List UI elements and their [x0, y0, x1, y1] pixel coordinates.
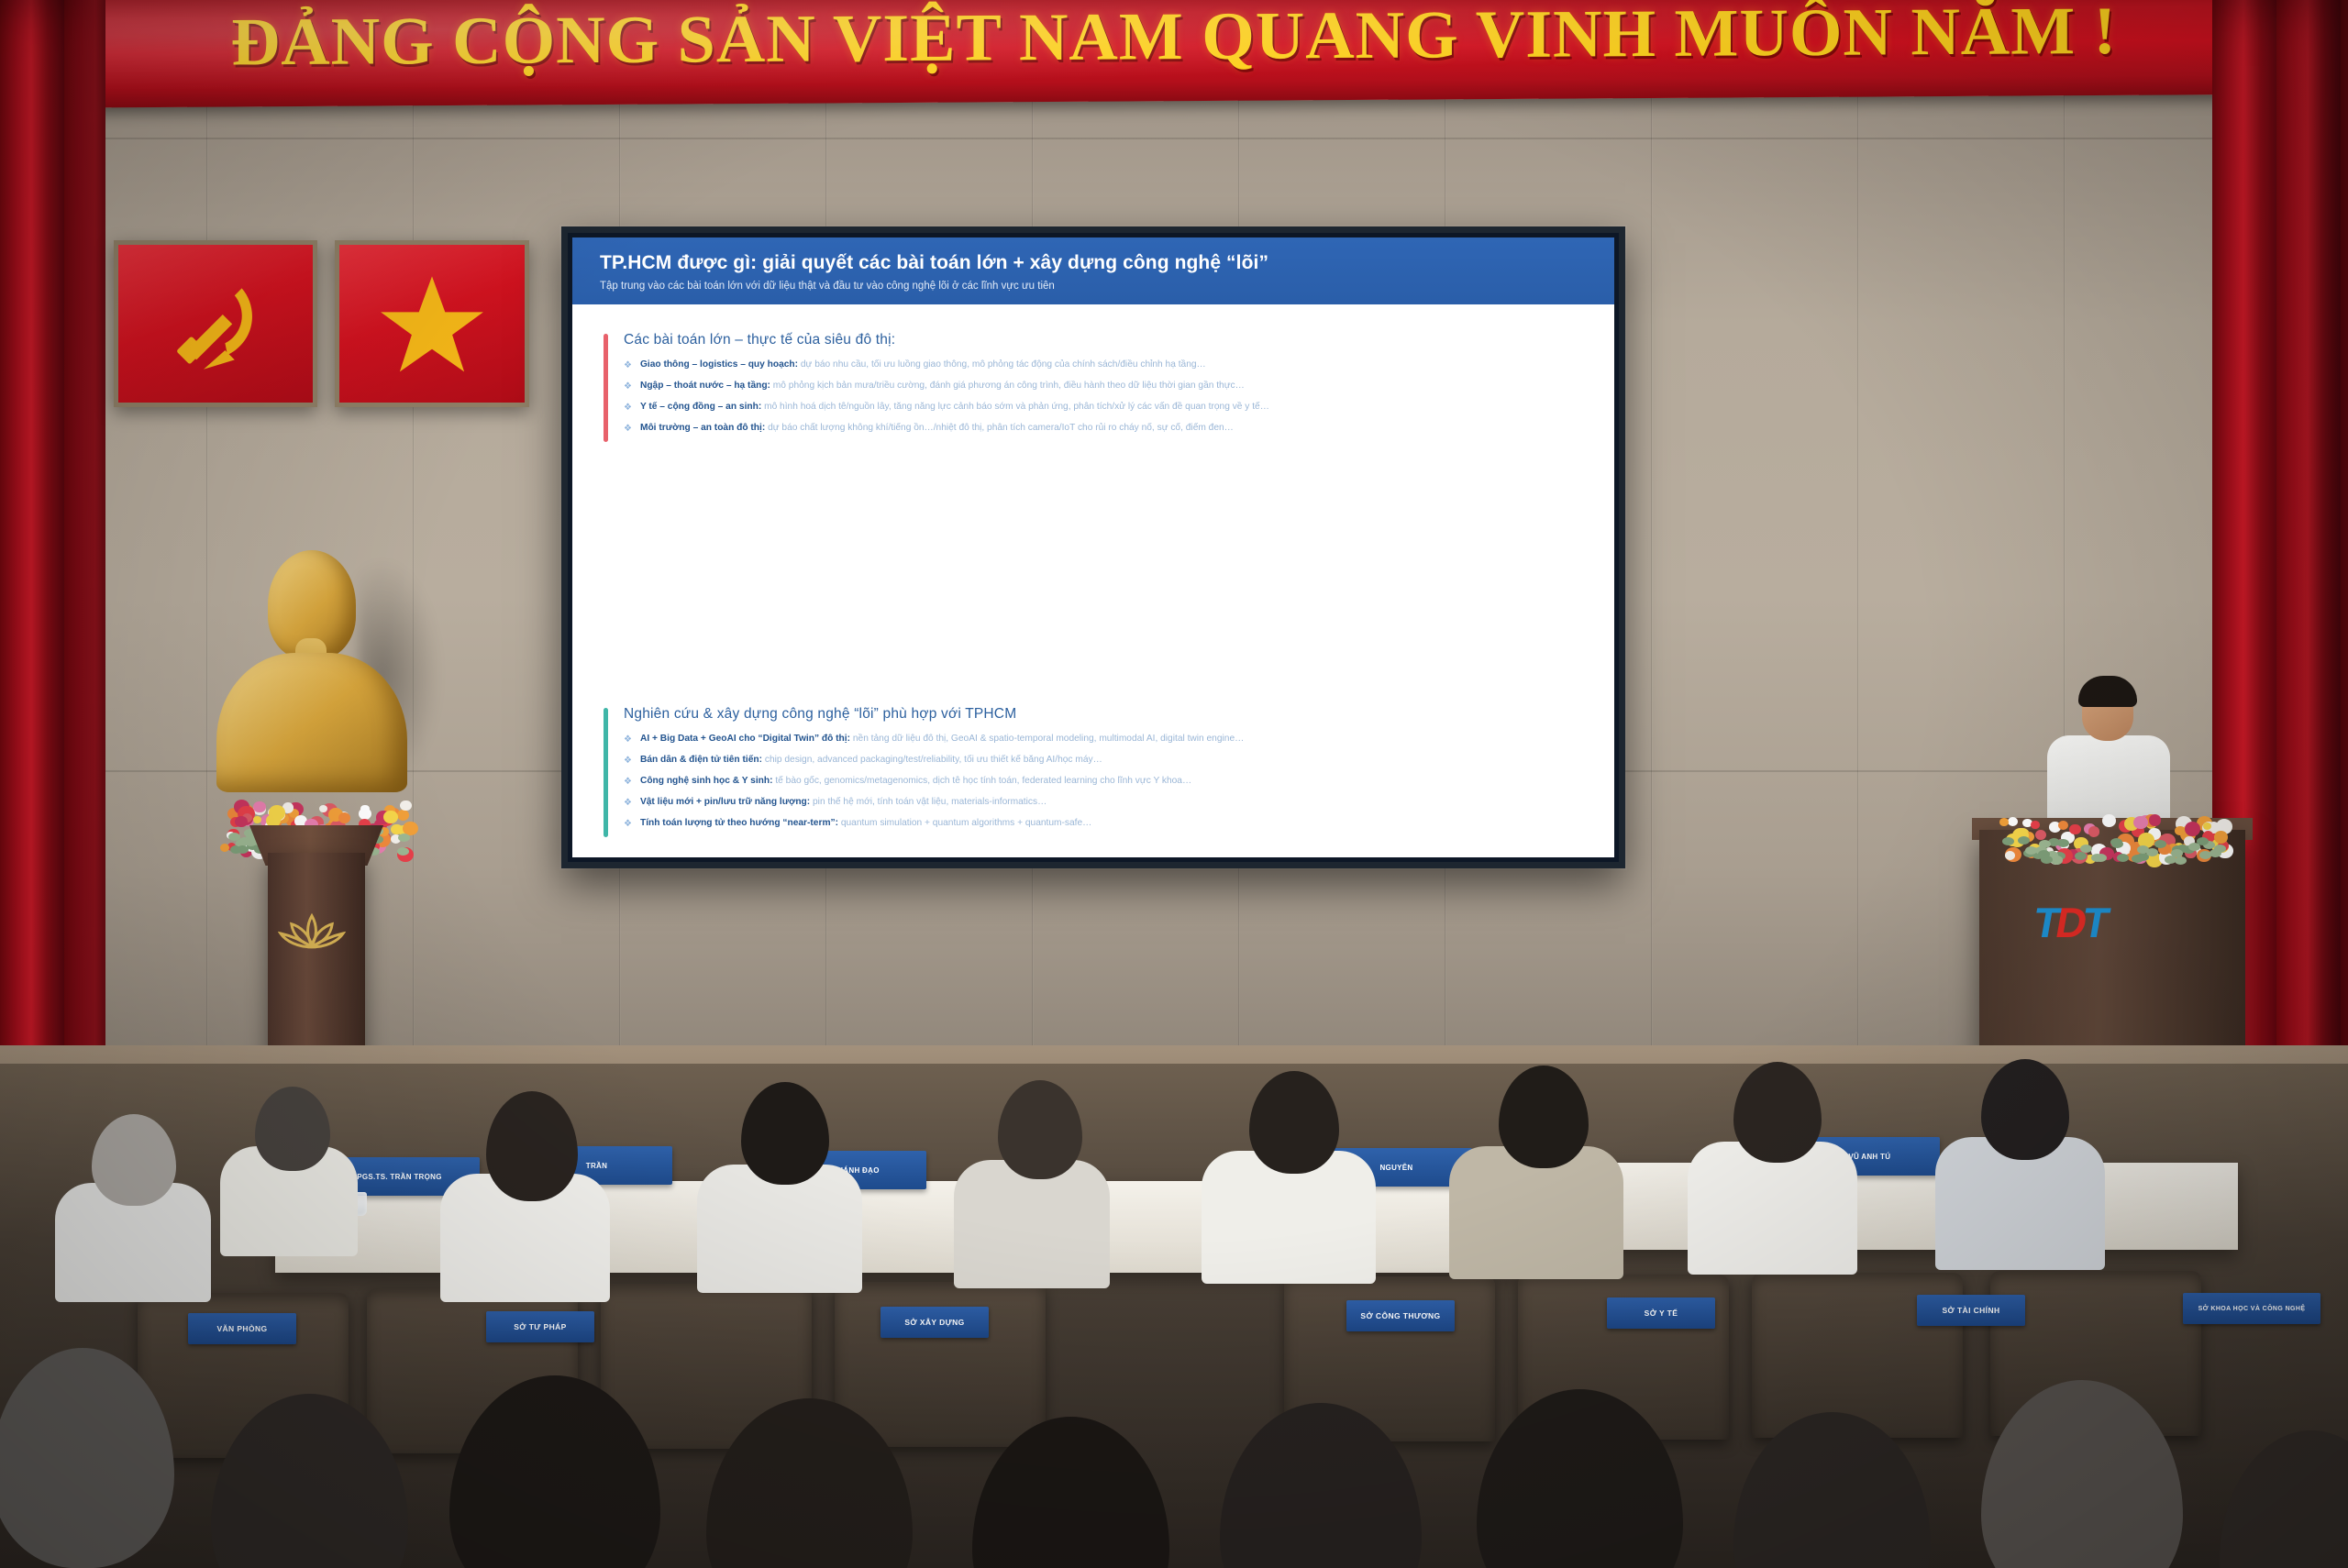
- bullet-rest: mô phỏng kịch bản mưa/triều cường, đánh …: [773, 381, 1245, 391]
- podium-flower-arrangement: [1999, 814, 2229, 860]
- bullet-marker-icon: ❖: [624, 798, 632, 810]
- seat-placard: SỞ Y TẾ: [1607, 1297, 1715, 1329]
- bullet-rest: mô hình hoá dịch tễ/nguồn lây, tăng năng…: [764, 402, 1269, 412]
- bullet-marker-icon: ❖: [624, 381, 632, 393]
- list-item: ❖ Bán dẫn & điện tử tiên tiến: chip desi…: [624, 755, 1583, 767]
- bullet-lead: Ngập – thoát nước – hạ tầng:: [640, 381, 770, 391]
- bullet-marker-icon: ❖: [624, 360, 632, 372]
- flower-petal: [253, 816, 261, 823]
- bullet-rest: pin thế hệ mới, tính toán vật liệu, mate…: [813, 797, 1047, 807]
- bullet-lead: AI + Big Data + GeoAI cho “Digital Twin”…: [640, 734, 850, 744]
- slide-body: Các bài toán lớn – thực tế của siêu đô t…: [572, 304, 1614, 857]
- bust-torso: [216, 653, 407, 792]
- flower-petal: [2185, 822, 2200, 836]
- bullet-rest: quantum simulation + quantum algorithms …: [841, 818, 1092, 828]
- bullet-rest: tế bào gốc, genomics/metagenomics, dịch …: [775, 776, 1191, 786]
- flower-leaf: [398, 834, 410, 842]
- slogan-banner: ĐẢNG CỘNG SẢN VIỆT NAM QUANG VINH MUÔN N…: [0, 0, 2348, 108]
- bullet-rest: dự báo chất lượng không khí/tiếng ồn…/nh…: [768, 423, 1234, 433]
- flower-petal: [397, 810, 409, 821]
- speaker-hair: [2078, 676, 2137, 707]
- section-accent-bar: [604, 708, 608, 837]
- slide-section-problems: Các bài toán lớn – thực tế của siêu đô t…: [604, 332, 1583, 444]
- ho-chi-minh-bust: [183, 550, 440, 1064]
- lotus-icon: [278, 912, 346, 955]
- speaker-person: [2043, 680, 2176, 836]
- flower-petal: [2008, 817, 2018, 826]
- bullet-lead: Giao thông – logistics – quy hoạch:: [640, 359, 798, 370]
- bullet-marker-icon: ❖: [624, 819, 632, 831]
- flower-petal: [235, 816, 248, 828]
- bullet-marker-icon: ❖: [624, 777, 632, 789]
- flower-petal: [2058, 821, 2068, 830]
- seat-placard: SỞ TƯ PHÁP: [486, 1311, 594, 1342]
- flower-leaf: [2137, 845, 2149, 854]
- flower-leaf: [2171, 849, 2183, 857]
- flower-leaf: [2175, 856, 2187, 865]
- banner-text: ĐẢNG CỘNG SẢN VIỆT NAM QUANG VINH MUÔN N…: [0, 0, 2348, 83]
- curtain-left: [0, 0, 105, 1110]
- flower-petal: [2175, 826, 2185, 835]
- bullet-list: ❖ AI + Big Data + GeoAI cho “Digital Twi…: [624, 734, 1583, 831]
- bullet-marker-icon: ❖: [624, 403, 632, 414]
- list-item: ❖ Ngập – thoát nước – hạ tầng: mô phỏng …: [624, 381, 1583, 393]
- party-flag-panel: [114, 240, 317, 407]
- section-accent-bar: [604, 334, 608, 442]
- audience-person: [954, 1160, 1110, 1288]
- flower-petal: [2133, 816, 2148, 829]
- flower-petal: [269, 805, 285, 820]
- slide-spacer: [604, 453, 1583, 706]
- list-item: ❖ Y tế – cộng đồng – an sinh: mô hình ho…: [624, 402, 1583, 414]
- flower-petal: [1999, 818, 2008, 826]
- section-heading: Nghiên cứu & xây dựng công nghệ “lõi” ph…: [624, 706, 1583, 723]
- seat-placard: SỞ CÔNG THƯƠNG: [1346, 1300, 1455, 1331]
- seat-placard: SỞ KHOA HỌC VÀ CÔNG NGHỆ: [2183, 1293, 2320, 1324]
- podium-logo: TDT: [2030, 894, 2187, 951]
- slide-title: TP.HCM được gì: giải quyết các bài toán …: [600, 252, 1587, 274]
- slide-header: TP.HCM được gì: giải quyết các bài toán …: [572, 237, 1614, 304]
- slide-section-core-tech: Nghiên cứu & xây dựng công nghệ “lõi” ph…: [604, 706, 1583, 839]
- bullet-marker-icon: ❖: [624, 424, 632, 436]
- flower-petal: [400, 801, 412, 812]
- flower-leaf: [2091, 854, 2103, 862]
- flower-leaf: [2188, 843, 2200, 851]
- flower-petal: [2088, 826, 2100, 837]
- bullet-rest: nền tảng dữ liệu đô thị, GeoAI & spatio-…: [853, 734, 1244, 744]
- bullet-lead: Y tế – cộng đồng – an sinh:: [640, 402, 761, 412]
- flower-petal: [2069, 824, 2080, 834]
- bullet-marker-icon: ❖: [624, 756, 632, 767]
- list-item: ❖ Tính toán lượng tử theo hướng “near-te…: [624, 818, 1583, 831]
- bullet-lead: Công nghệ sinh học & Y sinh:: [640, 776, 773, 786]
- flower-leaf: [2025, 846, 2037, 855]
- flower-petal: [2102, 814, 2116, 827]
- bullet-lead: Bán dẫn & điện tử tiên tiến:: [640, 755, 762, 765]
- flower-petal: [383, 811, 398, 824]
- gold-star-icon: [372, 267, 492, 386]
- flower-petal: [2005, 851, 2015, 860]
- bullet-lead: Môi trường – an toàn đô thị:: [640, 423, 765, 433]
- flower-leaf: [228, 833, 240, 841]
- list-item: ❖ Môi trường – an toàn đô thị: dự báo ch…: [624, 423, 1583, 436]
- bullet-rest: dự báo nhu cầu, tối ưu luồng giao thông,…: [801, 359, 1206, 370]
- lotus-emblem-icon: [278, 912, 346, 961]
- bullet-lead: Tính toán lượng tử theo hướng “near-term…: [640, 818, 838, 828]
- bullet-rest: chip design, advanced packaging/test/rel…: [765, 755, 1102, 765]
- list-item: ❖ Công nghệ sinh học & Y sinh: tế bào gố…: [624, 776, 1583, 789]
- seat-placard: VĂN PHÒNG: [188, 1313, 296, 1344]
- flower-petal: [253, 801, 266, 813]
- section-heading: Các bài toán lớn – thực tế của siêu đô t…: [624, 332, 1583, 348]
- wall-seam: [0, 138, 2348, 139]
- flower-petal: [220, 844, 229, 852]
- bullet-lead: Vật liệu mới + pin/lưu trữ năng lượng:: [640, 797, 810, 807]
- flower-petal: [2035, 830, 2046, 840]
- flower-leaf: [2199, 851, 2211, 859]
- flower-leaf: [2117, 854, 2129, 862]
- flower-petal: [2149, 814, 2162, 826]
- projection-screen: TP.HCM được gì: giải quyết các bài toán …: [561, 226, 1625, 868]
- presentation-slide: TP.HCM được gì: giải quyết các bài toán …: [572, 237, 1614, 857]
- list-item: ❖ Giao thông – logistics – quy hoạch: dự…: [624, 359, 1583, 372]
- hammer-and-sickle-icon: [147, 267, 284, 386]
- bullet-marker-icon: ❖: [624, 734, 632, 746]
- head-table-right: [1578, 1163, 2238, 1250]
- slide-subtitle: Tập trung vào các bài toán lớn với dữ li…: [600, 281, 1587, 293]
- bullet-list: ❖ Giao thông – logistics – quy hoạch: dự…: [624, 359, 1583, 436]
- flower-petal: [2031, 821, 2039, 829]
- flower-petal: [338, 812, 350, 823]
- flower-leaf: [2018, 836, 2030, 845]
- list-item: ❖ AI + Big Data + GeoAI cho “Digital Twi…: [624, 734, 1583, 746]
- seat-placard: SỞ XÂY DỰNG: [880, 1307, 989, 1338]
- seat-placard: SỞ TÀI CHÍNH: [1917, 1295, 2025, 1326]
- national-flag-panel: [335, 240, 529, 407]
- conference-hall-scene: ĐẢNG CỘNG SẢN VIỆT NAM QUANG VINH MUÔN N…: [0, 0, 2348, 1568]
- list-item: ❖ Vật liệu mới + pin/lưu trữ năng lượng:…: [624, 797, 1583, 810]
